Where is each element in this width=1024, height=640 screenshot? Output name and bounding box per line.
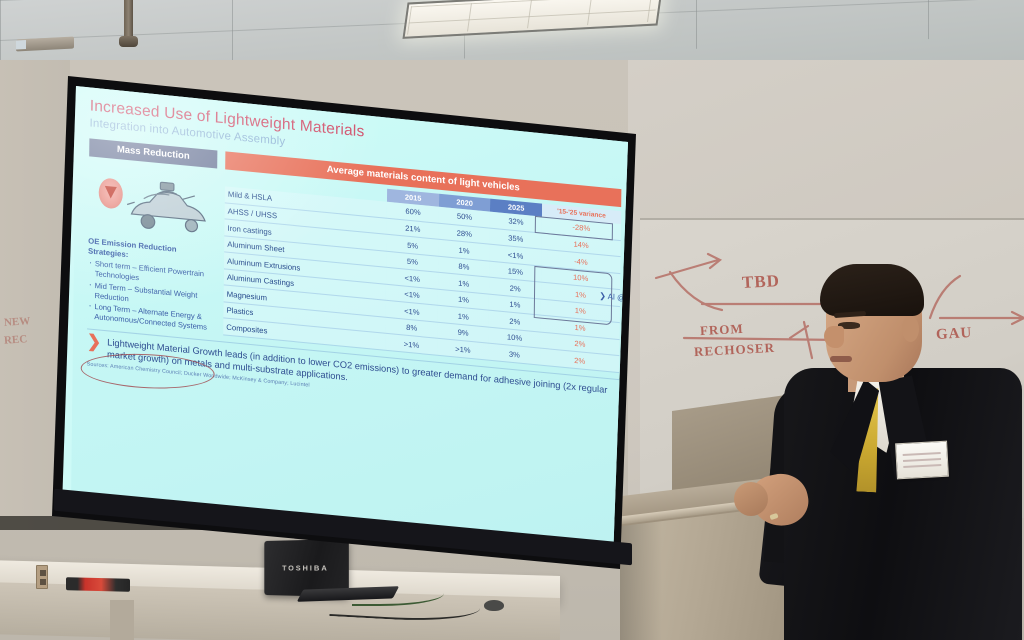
speaker-nose — [824, 326, 844, 348]
down-arrow-icon — [99, 177, 123, 209]
conference-room-scene: TBD FROM RECHOSER GAU NEW REC TOSHIBA — [0, 0, 1024, 640]
exploded-car-illustration — [122, 173, 213, 240]
mass-reduction-panel: OE Emission Reduction Strategies: Short … — [87, 160, 217, 334]
cell-2015: >1% — [386, 334, 438, 355]
table-red-object — [66, 577, 130, 592]
materials-table-wrap: 2015 2020 2025 '15-'25 variance Mild & H… — [223, 173, 621, 373]
projector-mount — [124, 0, 133, 42]
materials-content-table: 2015 2020 2025 '15-'25 variance Mild & H… — [223, 173, 621, 373]
cell-2020: >1% — [437, 339, 489, 360]
projection-screen: Increased Use of Lightweight Materials I… — [40, 64, 640, 576]
left-wall-mark-rec: REC — [4, 333, 28, 347]
speaker-mouth — [830, 356, 852, 362]
speaker-name-badge — [895, 441, 949, 480]
speaker-hair — [820, 264, 924, 316]
conference-table-leg — [110, 600, 134, 640]
brace-icon: ❯ — [599, 291, 606, 301]
left-wall-mark-new: NEW — [4, 315, 31, 329]
mouse[interactable] — [484, 600, 504, 611]
oe-strategies-block: OE Emission Reduction Strategies: Short … — [87, 236, 214, 335]
cell-2025: 3% — [489, 343, 541, 364]
presentation-slide: Increased Use of Lightweight Materials I… — [71, 86, 636, 559]
speaker-person — [742, 268, 1024, 640]
speaker-ear — [902, 316, 919, 342]
callout-marker-icon: ❯ — [87, 334, 101, 349]
speaker-hand-second — [734, 482, 768, 516]
